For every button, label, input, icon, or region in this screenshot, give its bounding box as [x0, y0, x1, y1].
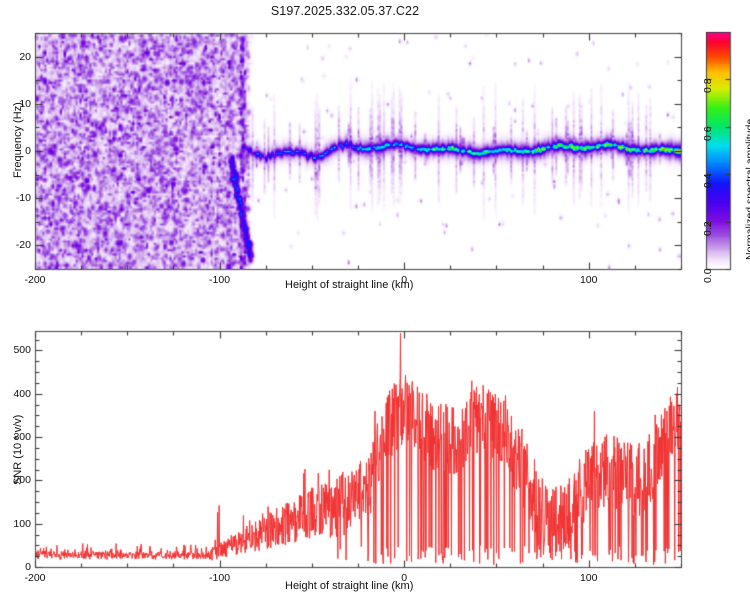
- y-tick-label: 20: [5, 51, 31, 63]
- x-tick-label: -100: [209, 274, 230, 286]
- x-tick-label: 100: [580, 572, 598, 584]
- snr-x-axis-title: Height of straight line (km): [285, 580, 413, 592]
- y-tick-label: 400: [5, 388, 31, 400]
- y-tick-label: -10: [5, 192, 31, 204]
- snr-y-axis-title: SNR (10 * v/v): [12, 415, 24, 485]
- y-tick-label: 100: [5, 518, 31, 530]
- y-tick-label: -20: [5, 239, 31, 251]
- colorbar-tick-label: 0.6: [702, 126, 714, 141]
- x-tick-label: -200: [24, 274, 45, 286]
- colorbar-tick-label: 0.8: [702, 78, 714, 93]
- figure-title: S197.2025.332.05.37.C22: [0, 4, 690, 18]
- x-tick-label: -100: [209, 572, 230, 584]
- y-tick-label: 500: [5, 344, 31, 356]
- colorbar-axis-title: Normalized spectral amplitude: [744, 119, 750, 260]
- snr-axes: [10, 318, 710, 608]
- colorbar-tick-label: 0.0: [702, 268, 714, 283]
- x-tick-label: -200: [24, 572, 45, 584]
- x-tick-label: 100: [580, 274, 598, 286]
- colorbar-axes: [696, 20, 740, 280]
- spectrogram-y-axis-title: Frequency (Hz): [12, 102, 24, 178]
- spectrogram-x-axis-title: Height of straight line (km): [285, 279, 413, 291]
- colorbar-tick-label: 0.4: [702, 173, 714, 188]
- y-tick-label: 0: [5, 561, 31, 573]
- colorbar-tick-label: 0.2: [702, 221, 714, 236]
- figure-root: S197.2025.332.05.37.C22 -200-1000100 -20…: [0, 0, 750, 600]
- spectrogram-axes: [10, 20, 710, 310]
